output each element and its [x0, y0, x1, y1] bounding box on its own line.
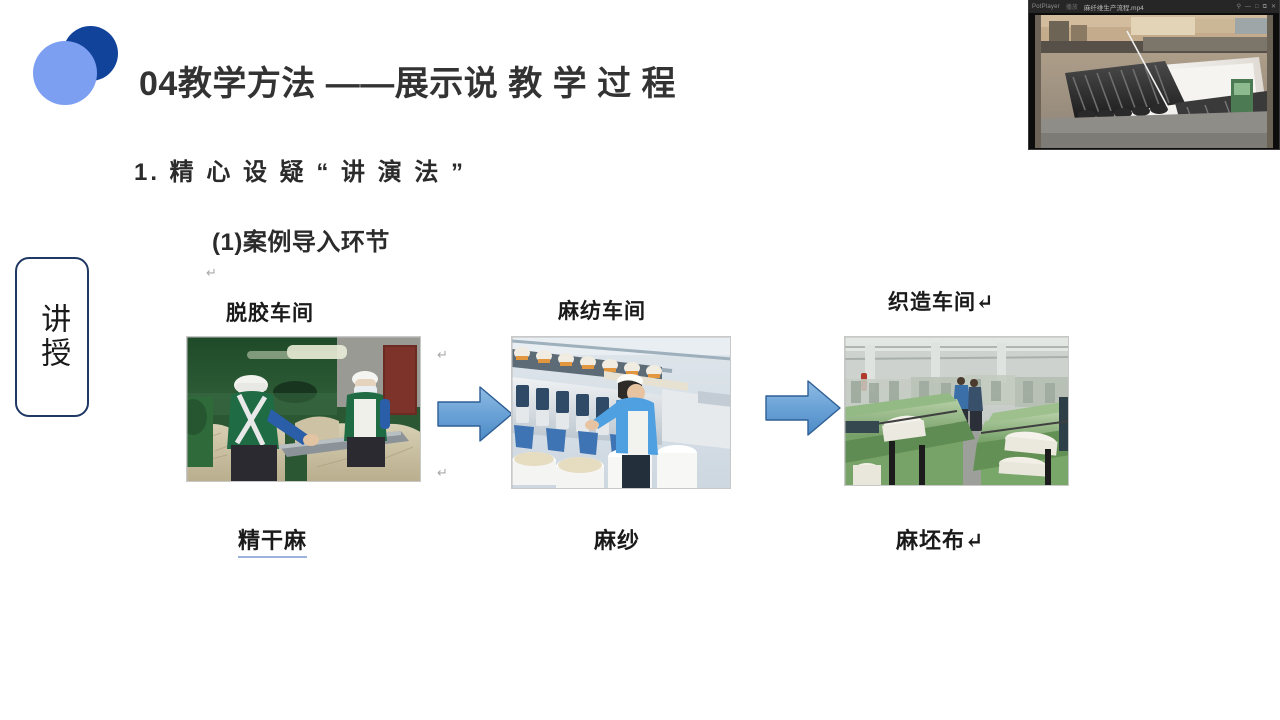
presentation-slide: 04教学方法 ——展示说 教 学 过 程 1. 精 心 设 疑 “ 讲 演 法 … [0, 0, 1280, 720]
video-player-app-name: PotPlayer [1032, 4, 1060, 10]
step-title-3: 织造车间↵ [888, 286, 995, 316]
degumming-workshop-photo [186, 336, 421, 482]
video-player-window[interactable]: PotPlayer 播放 麻纤维生产流程.mp4 ⚲ — □ ⧉ ✕ [1028, 0, 1280, 150]
step-caption-1: 精干麻 [238, 523, 307, 558]
weaving-workshop-photo [844, 336, 1069, 486]
spinning-workshop-photo [511, 336, 731, 489]
step-title-2: 麻纺车间 [558, 295, 646, 325]
video-stage[interactable] [1029, 13, 1279, 150]
minimize-icon[interactable]: — [1245, 4, 1251, 10]
step-title-1: 脱胶车间 [226, 297, 314, 327]
video-player-titlebar[interactable]: PotPlayer 播放 麻纤维生产流程.mp4 ⚲ — □ ⧉ ✕ [1029, 0, 1279, 13]
maximize-icon[interactable]: □ [1255, 4, 1259, 10]
video-frame [1035, 15, 1273, 148]
window-controls[interactable]: ⚲ — □ ⧉ ✕ [1237, 4, 1276, 10]
flow-arrow-right-icon [764, 378, 842, 443]
step-caption-3: 麻坯布↵ [896, 523, 984, 555]
pin-icon[interactable]: ⚲ [1237, 4, 1241, 10]
video-player-menu-button[interactable]: 播放 [1066, 2, 1078, 11]
video-player-file-name: 麻纤维生产流程.mp4 [1084, 2, 1144, 12]
restore-icon[interactable]: ⧉ [1263, 4, 1267, 10]
flow-arrow-right-icon [436, 384, 514, 449]
close-icon[interactable]: ✕ [1271, 4, 1276, 10]
step-caption-2: 麻纱 [594, 523, 640, 555]
